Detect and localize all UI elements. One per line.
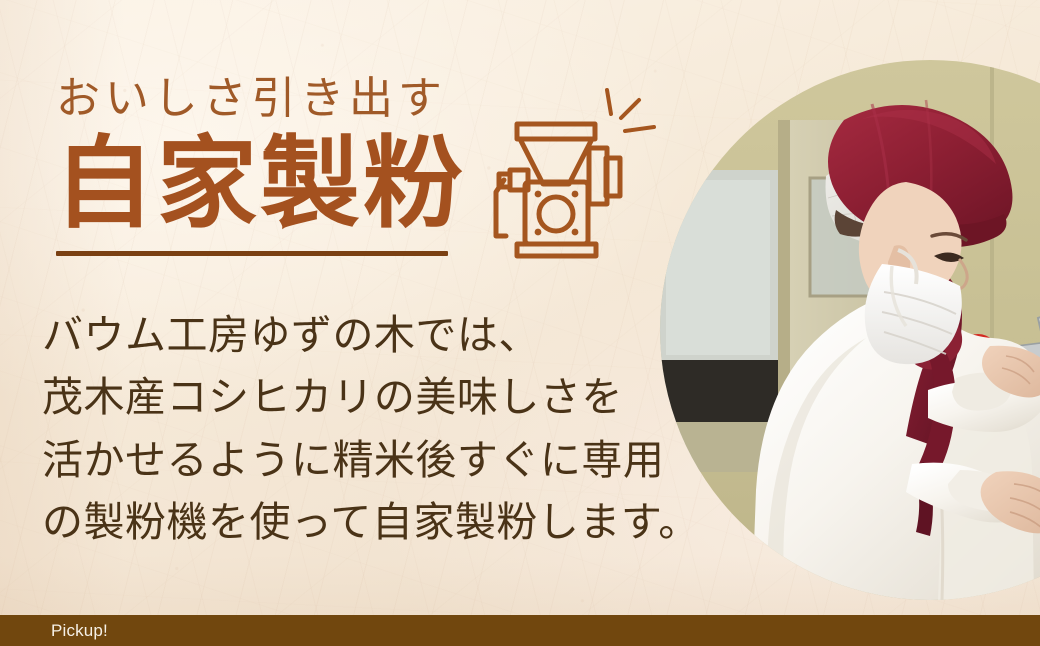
body-paragraph: バウム工房ゆずの木では、 茂木産コシヒカリの美味しさを 活かせるように精米後すぐ…	[42, 304, 692, 553]
sparkle-lines-icon	[607, 90, 654, 131]
body-line-2: 茂木産コシヒカリの美味しさを	[42, 366, 692, 428]
pickup-label: Pickup!	[51, 622, 108, 639]
body-line-4: の製粉機を使って自家製粉します。	[42, 491, 692, 553]
pickup-banner: おいしさ引き出す 自家製粉 バウム工房ゆずの木では、 茂木産コシヒカリの美味しさ…	[0, 0, 1040, 646]
title-underline	[56, 251, 448, 256]
kicker-text: おいしさ引き出す	[56, 77, 447, 121]
text-content: おいしさ引き出す 自家製粉 バウム工房ゆずの木では、 茂木産コシヒカリの美味しさ…	[0, 0, 700, 615]
flour-mill-icon	[484, 84, 674, 260]
body-line-3: 活かせるように精米後すぐに専用	[42, 429, 692, 491]
body-line-1: バウム工房ゆずの木では、	[42, 304, 692, 366]
page-title: 自家製粉	[54, 135, 466, 235]
pickup-bar: Pickup!	[0, 615, 1040, 646]
